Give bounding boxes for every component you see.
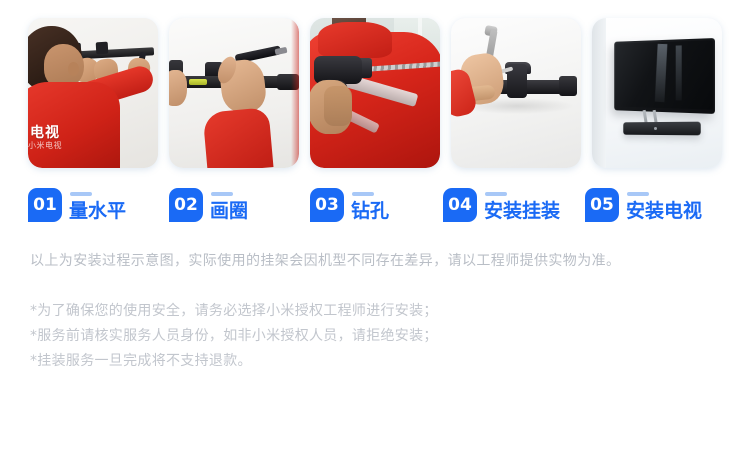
step-label-text-4: 安装挂装 <box>484 200 560 222</box>
installation-steps-page: 电视 小米电视 <box>0 0 750 454</box>
label-dash-icon <box>352 192 374 196</box>
adjacent-photo-edge <box>291 18 299 168</box>
hood-collar-shape <box>318 22 392 58</box>
disclaimer-main-note: 以上为安装过程示意图，实际使用的挂架会因机型不同存在差异，请以工程师提供实物为准… <box>30 250 620 272</box>
fingers-shape <box>324 86 352 126</box>
step-badge-4: 04 <box>443 188 477 222</box>
step-label-block-2: 画圈 <box>210 192 248 222</box>
red-sleeve-shape <box>203 107 274 168</box>
step-labels-row: 01 量水平 02 画圈 03 钻孔 04 安装挂装 <box>28 176 728 222</box>
technician-leveling-bracket-photo: 电视 小米电视 <box>28 18 158 168</box>
step-label-block-5: 安装电视 <box>626 192 702 222</box>
disclaimer-note-1: *为了确保您的使用安全，请务必选择小米授权工程师进行安装； <box>30 299 438 324</box>
step-badge-3: 03 <box>310 188 344 222</box>
step-label-block-3: 钻孔 <box>351 192 389 222</box>
step-photo-strip: 电视 小米电视 <box>28 18 722 168</box>
step-label-1: 01 量水平 <box>28 176 126 222</box>
step-label-block-4: 安装挂装 <box>484 192 560 222</box>
left-hand-shape <box>169 70 187 106</box>
step-label-5: 05 安装电视 <box>585 176 702 222</box>
bracket-end-right-shape <box>559 76 577 96</box>
step-badge-1: 01 <box>28 188 62 222</box>
screen-glare-2-shape <box>676 45 682 100</box>
step-label-4: 04 安装挂装 <box>443 176 560 222</box>
step-label-3: 03 钻孔 <box>310 176 389 222</box>
disclaimer-note-3: *挂装服务一旦完成将不支持退款。 <box>30 349 438 374</box>
disclaimer-note-2: *服务前请核实服务人员身份，如非小米授权人员，请拒绝安装； <box>30 324 438 349</box>
mounted-tv-photo <box>592 18 722 168</box>
step-label-text-2: 画圈 <box>210 200 248 222</box>
label-dash-icon <box>485 192 507 196</box>
step-card-5[interactable] <box>592 18 722 168</box>
label-dash-icon <box>211 192 233 196</box>
disclaimer-note-list: *为了确保您的使用安全，请务必选择小米授权工程师进行安装； *服务前请核实服务人… <box>30 299 438 374</box>
marking-holes-photo <box>169 18 299 168</box>
uniform-text-large: 电视 <box>30 122 60 142</box>
marker-tip-shape <box>275 47 288 55</box>
step-label-2: 02 画圈 <box>169 176 248 222</box>
drilling-holes-photo <box>310 18 440 168</box>
installing-wall-mount-photo <box>451 18 581 168</box>
mount-clamp-right-shape <box>96 42 109 55</box>
step-badge-2: 02 <box>169 188 203 222</box>
bubble-level-vial-shape <box>189 79 207 85</box>
step-badge-5: 05 <box>585 188 619 222</box>
step-card-1[interactable]: 电视 小米电视 <box>28 18 158 168</box>
step-card-3[interactable] <box>310 18 440 168</box>
wall-edge-shape <box>592 18 606 168</box>
step-label-text-1: 量水平 <box>69 200 126 222</box>
step-label-text-3: 钻孔 <box>351 200 389 222</box>
television-shape <box>614 38 715 114</box>
step-card-2[interactable] <box>169 18 299 168</box>
step-card-4[interactable] <box>451 18 581 168</box>
soundbar-indicator-dot <box>654 127 657 130</box>
label-dash-icon <box>70 192 92 196</box>
step-label-block-1: 量水平 <box>69 192 126 222</box>
label-dash-icon <box>627 192 649 196</box>
ear-shape <box>68 62 79 76</box>
step-label-text-5: 安装电视 <box>626 200 702 222</box>
soundbar-shape <box>623 122 700 136</box>
uniform-text-small: 小米电视 <box>28 140 62 151</box>
